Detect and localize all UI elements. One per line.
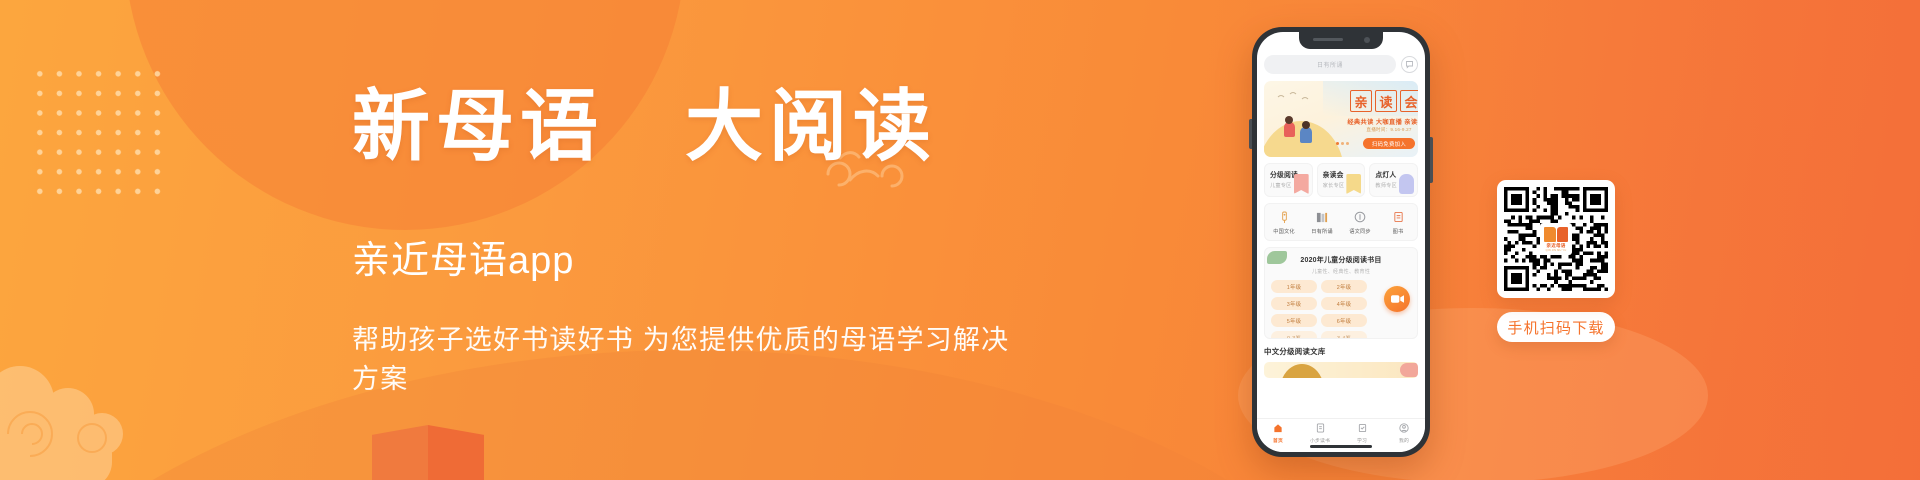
dot-grid-pattern [28, 62, 168, 202]
tab-label: 首页 [1257, 437, 1299, 444]
brand-logo: 亲近母语 QIN JIN MU YU [1540, 223, 1572, 255]
headline-part-1: 新母语 [352, 83, 604, 170]
app-name: 亲近母语app [352, 229, 1012, 284]
age-chip[interactable]: 3-4岁 [1321, 331, 1367, 339]
cube-shape [372, 414, 484, 480]
page-title: 新母语 大阅读 [352, 86, 1012, 167]
quick-link-label: 图书 [1379, 228, 1417, 235]
lantern-icon [1265, 210, 1303, 225]
person-icon [1399, 174, 1414, 194]
promo-char-3: 会 [1400, 90, 1418, 112]
quick-link-label: 语文同步 [1341, 228, 1379, 235]
book-logo-icon [1544, 227, 1568, 242]
phone-mockup: 日有所诵 亲 读 会 限时免费 [1252, 27, 1430, 457]
grade-chip[interactable]: 6年级 [1321, 314, 1367, 327]
promo-subtitle: 经典共读 大咖直播 亲读者说 [1340, 117, 1418, 126]
circle-book-icon [1341, 210, 1379, 225]
book-icon [1346, 174, 1361, 194]
grade-chip[interactable]: 4年级 [1321, 297, 1367, 310]
promo-banner: 新母语 大阅读 亲近母语app 帮助孩子选好书读好书 为您提供优质的母语学习解决… [0, 0, 1920, 480]
right-gradient-wash [1400, 0, 1920, 480]
grade-chip[interactable]: 1年级 [1271, 280, 1317, 293]
phone-notch [1299, 32, 1383, 49]
quick-link-chinese-culture[interactable]: 中国文化 [1265, 210, 1303, 235]
headline-part-2: 大阅读 [685, 83, 937, 170]
promo-char-1: 亲 [1350, 90, 1372, 112]
phone-screen: 日有所诵 亲 读 会 限时免费 [1257, 32, 1425, 452]
message-icon[interactable] [1401, 56, 1418, 73]
auspicious-cloud-icon [0, 342, 192, 480]
quick-link-label: 日有所诵 [1303, 228, 1341, 235]
promo-title: 亲 读 会 [1350, 90, 1418, 112]
grade-chip[interactable]: 5年级 [1271, 314, 1317, 327]
books-icon [1303, 210, 1341, 225]
library-title: 中文分级阅读文库 [1264, 346, 1418, 357]
quick-link-textbook-sync[interactable]: 语文同步 [1341, 210, 1379, 235]
quick-links: 中国文化 日有所诵 语文同步 [1264, 203, 1418, 241]
tab-study[interactable]: 学习 [1341, 422, 1383, 444]
category-card-parent-club[interactable]: 亲读会 家长专区 [1317, 163, 1366, 197]
booklist-section: 2020年儿童分级阅读书目 儿童性、经典性、教育性 1年级 2年级 3年级 4年… [1264, 247, 1418, 339]
copy-block: 新母语 大阅读 亲近母语app 帮助孩子选好书读好书 为您提供优质的母语学习解决… [352, 86, 1012, 396]
age-chip[interactable]: 0-3岁 [1271, 331, 1317, 339]
library-banner[interactable] [1264, 362, 1418, 378]
carousel-dots[interactable] [1336, 142, 1349, 145]
quick-link-daily-recite[interactable]: 日有所诵 [1303, 210, 1341, 235]
leaf-icon [1267, 251, 1287, 264]
search-row: 日有所诵 [1264, 55, 1418, 74]
qr-section: 亲近母语 QIN JIN MU YU 手机扫码下载 [1497, 180, 1615, 342]
tab-read[interactable]: 小步读书 [1299, 422, 1341, 444]
study-icon [1341, 422, 1383, 435]
tab-label: 小步读书 [1299, 437, 1341, 444]
booklist-subtitle: 儿童性、经典性、教育性 [1271, 268, 1411, 275]
category-card-teacher[interactable]: 点灯人 教师专区 [1369, 163, 1418, 197]
home-icon [1257, 422, 1299, 435]
tab-label: 学习 [1341, 437, 1383, 444]
category-cards: 分级阅读 儿童专区 亲读会 家长专区 点灯人 教师专区 [1264, 163, 1418, 197]
tab-home[interactable]: 首页 [1257, 422, 1299, 444]
logo-pinyin: QIN JIN MU YU [1546, 249, 1567, 252]
promo-date: 直播时间：9.16-9.27 [1340, 127, 1418, 133]
bookmark-icon [1294, 174, 1309, 194]
read-icon [1299, 422, 1341, 435]
profile-icon [1383, 422, 1425, 435]
promo-join-button[interactable]: 扫码免费加入 [1363, 138, 1415, 149]
tab-profile[interactable]: 我的 [1383, 422, 1425, 444]
quick-link-label: 中国文化 [1265, 228, 1303, 235]
search-input[interactable]: 日有所诵 [1264, 55, 1396, 74]
promo-char-2: 读 [1375, 90, 1397, 112]
promo-card[interactable]: 亲 读 会 限时免费 经典共读 大咖直播 亲读者说 直播时间：9.16-9.27… [1264, 81, 1418, 157]
note-icon [1379, 210, 1417, 225]
download-button[interactable]: 手机扫码下载 [1497, 312, 1615, 342]
grade-chip[interactable]: 2年级 [1321, 280, 1367, 293]
tagline: 帮助孩子选好书读好书 为您提供优质的母语学习解决方案 [352, 318, 1012, 396]
tab-label: 我的 [1383, 437, 1425, 444]
grade-chip[interactable]: 3年级 [1271, 297, 1317, 310]
birds-icon [1276, 91, 1316, 107]
category-card-graded-reading[interactable]: 分级阅读 儿童专区 [1264, 163, 1313, 197]
play-video-icon[interactable] [1384, 286, 1410, 312]
home-indicator [1310, 445, 1372, 448]
qr-code[interactable]: 亲近母语 QIN JIN MU YU [1497, 180, 1615, 298]
booklist-title: 2020年儿童分级阅读书目 [1271, 255, 1411, 265]
quick-link-books[interactable]: 图书 [1379, 210, 1417, 235]
